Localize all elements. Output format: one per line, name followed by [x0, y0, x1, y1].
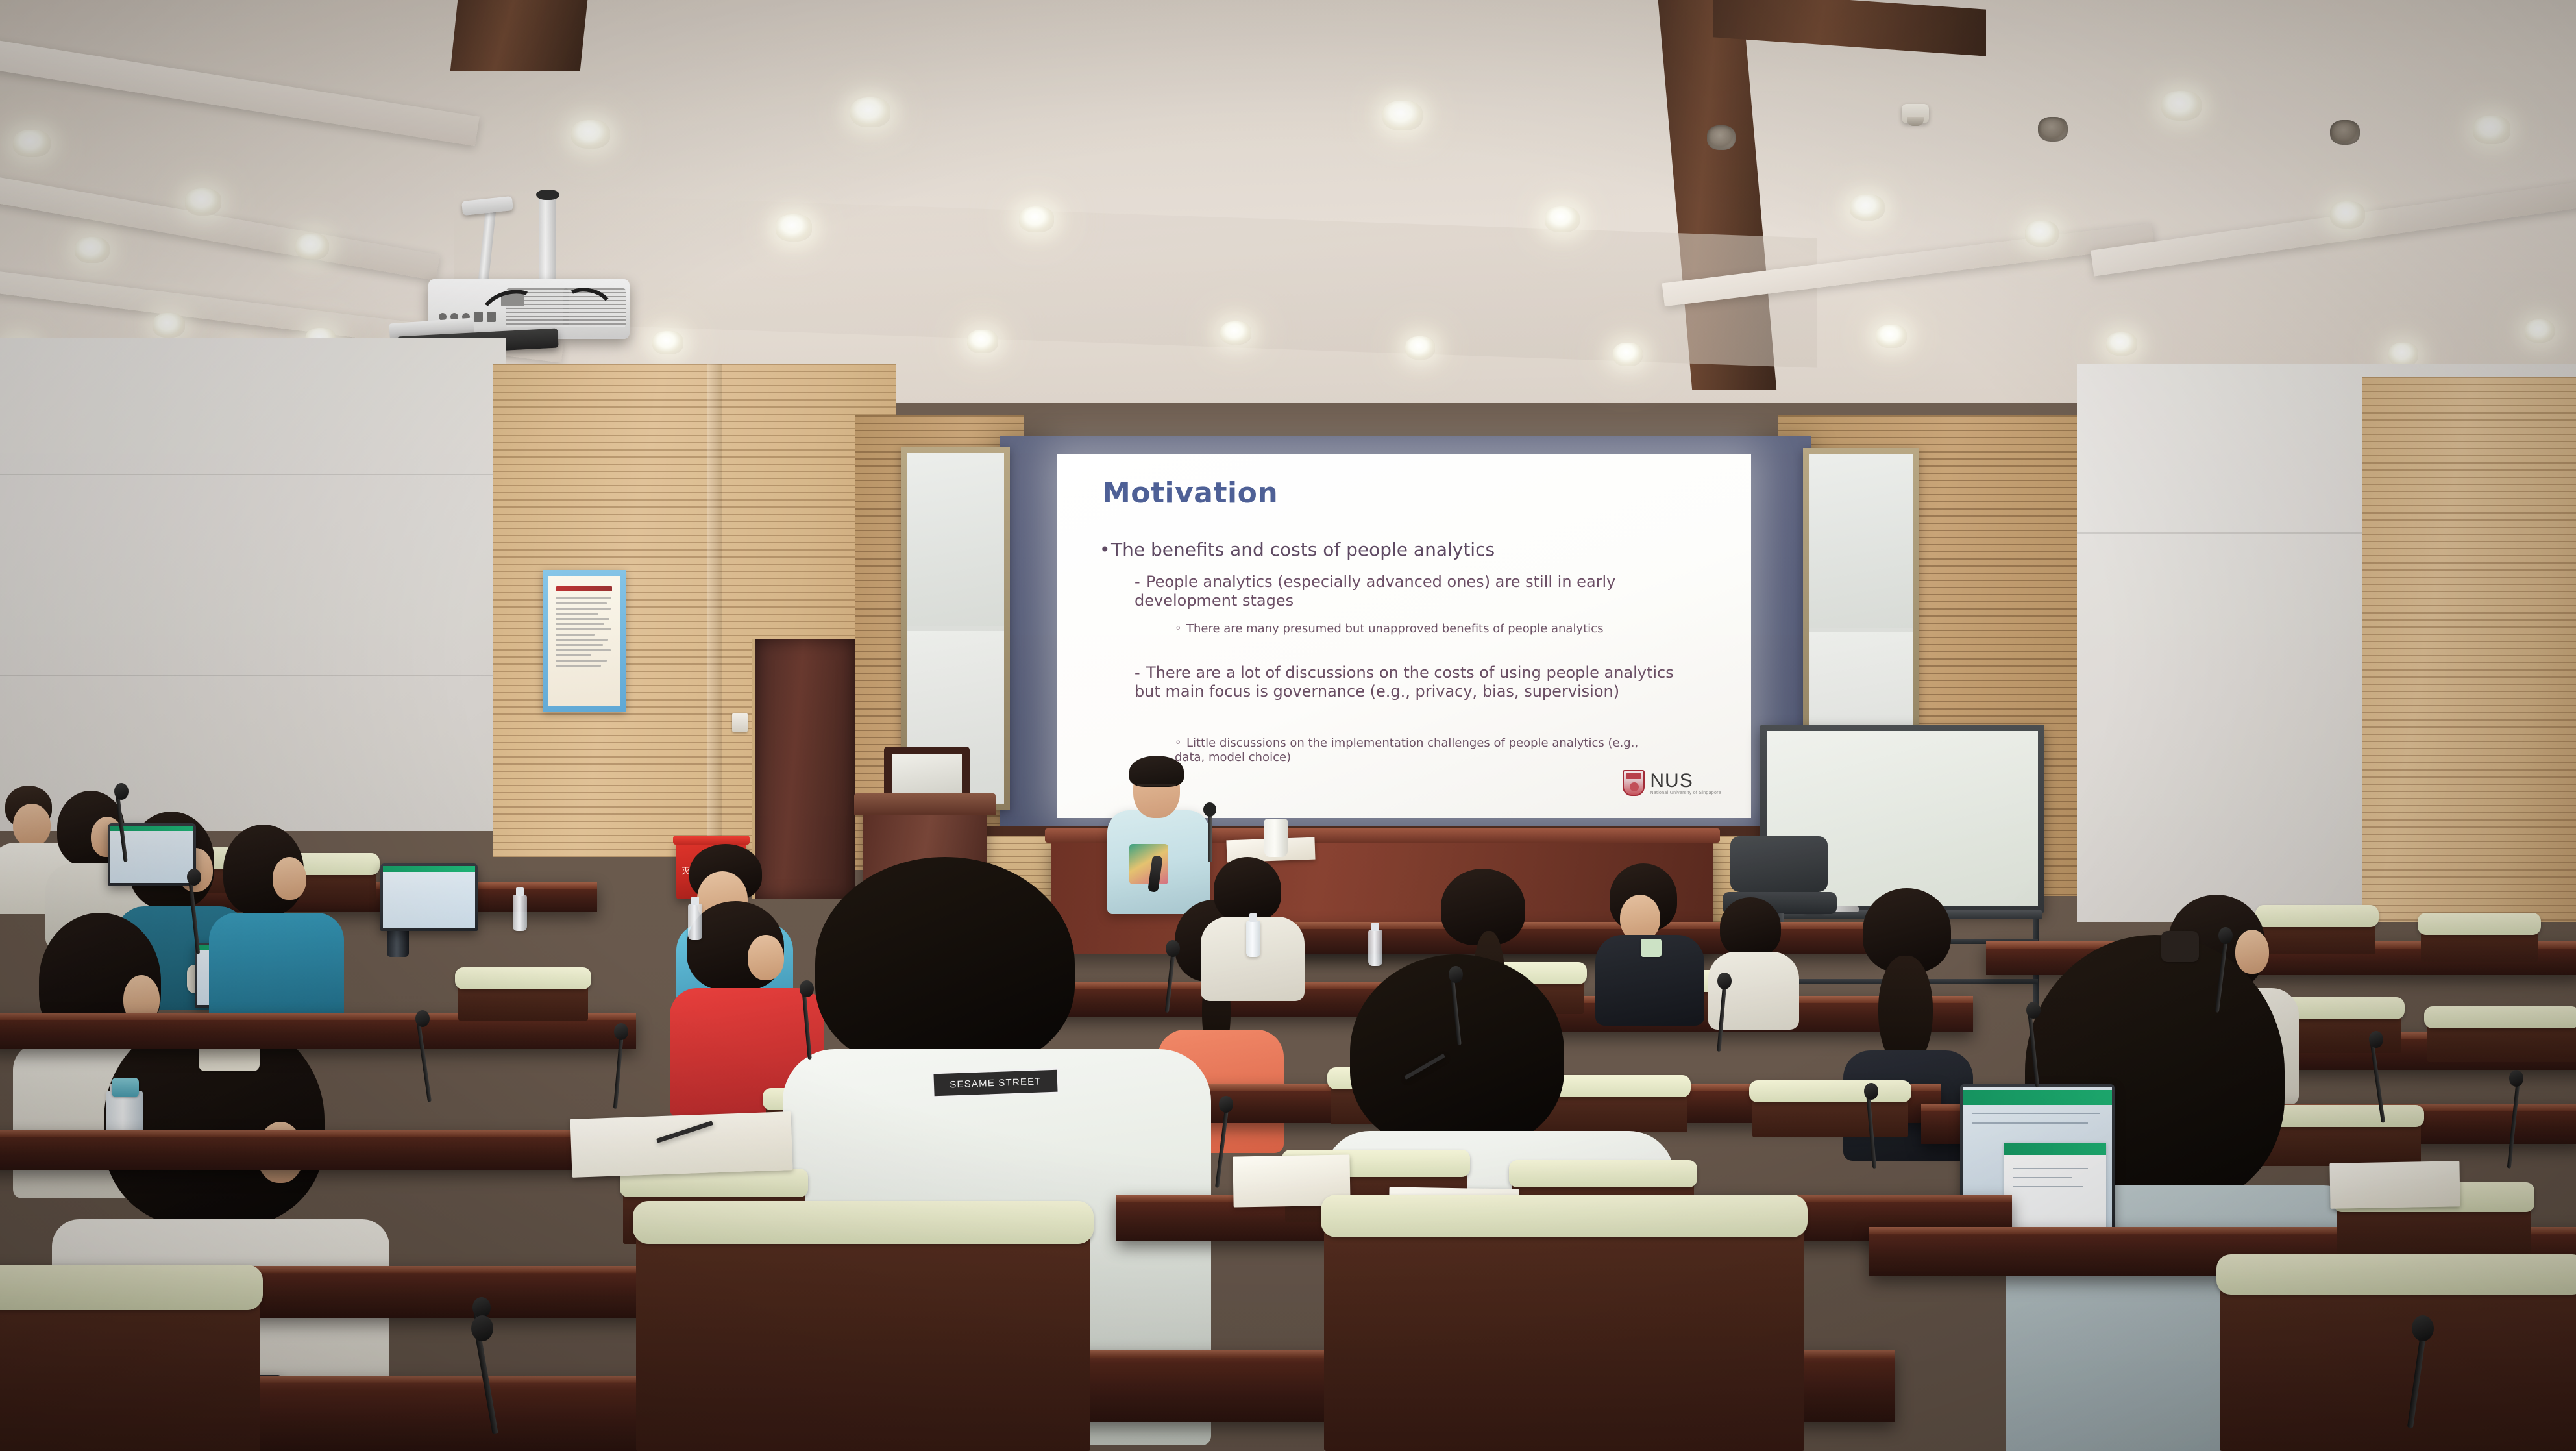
- slide-bullet-4: -There are a lot of discussions on the c…: [1135, 663, 1693, 702]
- ceiling-light-unlit: [2330, 120, 2360, 145]
- chair-front-far-right[interactable]: [2220, 1272, 2576, 1451]
- slide-bullet-1: •The benefits and costs of people analyt…: [1099, 539, 1697, 560]
- desk-microphone-head: [2412, 1315, 2434, 1341]
- desk-microphone-head: [614, 1023, 628, 1040]
- notebook: [2329, 1161, 2460, 1208]
- nus-logo: NUS National University of Singapore: [1623, 770, 1721, 796]
- desk-microphone-head: [2218, 927, 2233, 944]
- nus-subtitle: National University of Singapore: [1650, 791, 1721, 795]
- ceiling-light: [2473, 116, 2510, 144]
- ceiling-light: [153, 313, 185, 338]
- ceiling-light: [75, 237, 110, 263]
- desk-microphone-head: [1203, 802, 1216, 817]
- desk-microphone-head: [2369, 1031, 2383, 1048]
- slide-bullet-5-text: Little discussions on the implementation…: [1175, 736, 1638, 764]
- chair[interactable]: [1752, 1091, 1908, 1137]
- chair-front-right[interactable]: [1324, 1214, 1804, 1451]
- ceiling-light: [295, 234, 329, 260]
- desk-microphone-stand: [1208, 810, 1212, 862]
- ceiling-light-unlit: [2038, 117, 2068, 142]
- chair[interactable]: [458, 978, 588, 1021]
- light-switch[interactable]: [732, 713, 748, 732]
- shirt-logo: SESAME STREET: [931, 1068, 1059, 1098]
- ceiling-light: [2025, 221, 2059, 247]
- slide-bullet-3: ◦There are many presumed but unapproved …: [1175, 622, 1668, 636]
- ceiling-light: [1019, 206, 1054, 232]
- paper-cup: [1264, 819, 1288, 857]
- presenter-hair: [1129, 756, 1184, 787]
- desk-microphone-head: [1449, 966, 1463, 983]
- bullet-marker: -: [1135, 663, 1146, 682]
- desk-microphone-head: [187, 869, 201, 886]
- hair-clip: [2161, 931, 2199, 962]
- bottle-cap: [112, 1078, 139, 1097]
- desk-microphone-head: [1219, 1096, 1233, 1113]
- chair[interactable]: [2259, 1115, 2421, 1166]
- chair-front-left[interactable]: [0, 1285, 260, 1451]
- slide-bullet-2: -People analytics (especially advanced o…: [1135, 573, 1693, 611]
- ceiling-beam-dark-left: [450, 0, 589, 71]
- desk-microphone-head: [114, 783, 129, 800]
- ceiling-light: [13, 130, 51, 157]
- lecture-hall-photo: 灭火器箱 Motivation •The benefits and costs …: [0, 0, 2576, 1451]
- wall-pilaster-left: [707, 364, 722, 857]
- slide-bullet-1-text: The benefits and costs of people analyti…: [1111, 539, 1495, 560]
- slide-bullet-4-text: There are a lot of discussions on the co…: [1135, 663, 1674, 701]
- ceiling-light: [652, 331, 683, 354]
- ceiling-light: [571, 120, 610, 149]
- water-bottle: [1368, 930, 1382, 966]
- slide-title: Motivation: [1102, 477, 1278, 510]
- ceiling-light: [1850, 195, 1885, 221]
- collar-badge: [1641, 939, 1662, 957]
- bullet-marker: •: [1099, 539, 1111, 560]
- desk-microphone-head: [2509, 1070, 2523, 1087]
- chair[interactable]: [2421, 923, 2538, 962]
- slide-bullet-5: ◦Little discussions on the implementatio…: [1175, 736, 1668, 764]
- bullet-marker: ◦: [1175, 622, 1186, 636]
- ceiling-light: [1382, 101, 1423, 130]
- ceiling-light: [2161, 91, 2202, 121]
- desk-row-5b: [1233, 922, 1882, 954]
- ceiling-light: [2106, 332, 2137, 356]
- projector-mount-pole: [539, 195, 556, 292]
- desk-microphone-head: [1166, 940, 1180, 957]
- ceiling-light: [850, 97, 890, 127]
- glasses-icon: [1137, 784, 1176, 792]
- ceiling-light: [776, 214, 812, 242]
- ceiling-light: [2525, 319, 2555, 343]
- chair[interactable]: [2259, 915, 2375, 954]
- slide-bullet-3-text: There are many presumed but unapproved b…: [1186, 622, 1603, 636]
- laptop[interactable]: [380, 863, 478, 931]
- wall-notice-poster: [543, 570, 626, 712]
- exit-door[interactable]: [752, 639, 855, 899]
- ceiling-light: [1876, 325, 1907, 348]
- wall-panel-left: [0, 338, 506, 831]
- nus-wordmark: NUS: [1650, 771, 1721, 791]
- notebook: [570, 1111, 793, 1178]
- projector-pole-cap: [536, 190, 559, 200]
- ceiling-light: [967, 330, 998, 353]
- water-bottle: [513, 895, 527, 931]
- ceiling-light: [2388, 343, 2418, 366]
- desk-microphone-head: [1717, 973, 1732, 989]
- ceiling-light: [1405, 336, 1435, 360]
- nus-crest-icon: [1623, 770, 1645, 796]
- wall-wood-right: [2362, 377, 2576, 922]
- ceiling-light: [185, 188, 221, 216]
- slide-bullet-2-text: People analytics (especially advanced on…: [1135, 573, 1615, 610]
- bullet-marker: -: [1135, 573, 1146, 591]
- chair[interactable]: [2427, 1017, 2576, 1062]
- ceiling-light: [2330, 201, 2365, 229]
- desk-microphone-head: [471, 1315, 493, 1341]
- water-bottle: [1246, 921, 1260, 957]
- desk-microphone-head: [415, 1010, 430, 1027]
- chair-front-center[interactable]: [636, 1221, 1090, 1451]
- desk-microphone-head: [2026, 1002, 2041, 1019]
- ceiling-light: [1613, 343, 1643, 366]
- smoke-detector-icon: [1902, 104, 1929, 123]
- water-bottle: [688, 904, 702, 940]
- ceiling-light: [1220, 321, 1251, 345]
- ceiling-light: [1545, 206, 1580, 232]
- bullet-marker: ◦: [1175, 736, 1186, 750]
- desk-microphone-head: [1864, 1083, 1878, 1100]
- desk-microphone-head: [800, 980, 814, 997]
- ceiling-light-unlit: [1707, 125, 1736, 150]
